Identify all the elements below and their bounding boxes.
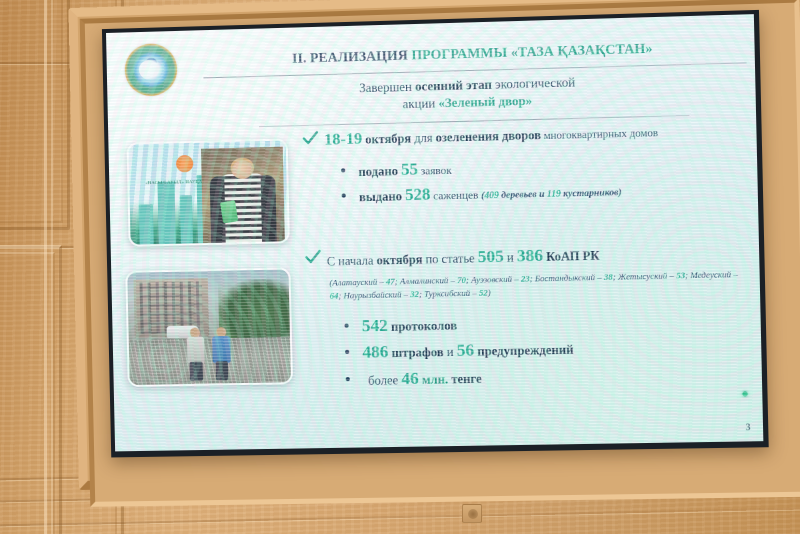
block1-for: для: [414, 131, 436, 146]
block1-item-2: выдано 528 саженцев (409 деревьев и 119 …: [359, 180, 622, 206]
block2-fines-count: 486: [362, 342, 388, 362]
block1-heading: 18-19 октября для озеленения дворов мног…: [324, 123, 658, 150]
slide-photo-green-yard-event: «НАСЫЛ АУЫЛ» НАУҚАНЫ: [126, 138, 290, 246]
district-value: 32: [410, 289, 419, 299]
block2-conj: и: [504, 250, 517, 264]
block2-item-1: 542 протоколов: [362, 314, 458, 336]
block2-item3-pre: более: [368, 373, 402, 388]
district-name: Бостандыкский –: [535, 272, 604, 284]
districts-close-paren: ): [488, 288, 491, 298]
bullet-dot: [341, 168, 345, 172]
subtitle-line2-b: «Зеленый двор»: [438, 93, 532, 110]
bullet-dot: [345, 324, 349, 328]
bullet-dot: [346, 377, 350, 381]
block2-lead: С начала: [327, 253, 377, 268]
photo2-person-legs: [190, 362, 203, 381]
slide-subtitle: Завершен осенний этап экологической акци…: [248, 71, 689, 116]
district-value: 64: [330, 291, 339, 301]
district-value: 23: [521, 273, 530, 283]
block2-item-2: 486 штрафов и 56 предупреждений: [362, 338, 573, 362]
block2-fines-label: штрафов: [388, 345, 447, 360]
block1-item-1: подано 55 заявок: [358, 159, 452, 181]
presentation-display[interactable]: II. РЕАЛИЗАЦИЯ ПРОГРАММЫ «ТАЗА ҚАЗАҚСТАН…: [106, 14, 763, 451]
block1-green-yards: озеленения дворов: [435, 128, 541, 145]
block2-mid: по статье: [422, 251, 478, 266]
photo2-person: [212, 327, 231, 379]
block2-protocols-label: протоколов: [388, 318, 458, 334]
block1-shrubs-count: 119: [547, 189, 561, 199]
checkmark-icon: [304, 249, 322, 267]
screen-wall-frame: II. РЕАЛИЗАЦИЯ ПРОГРАММЫ «ТАЗА ҚАЗАҚСТАН…: [68, 0, 800, 518]
photo1-person: [201, 147, 285, 243]
photo2-person-body: [187, 336, 205, 363]
block1-item2-parenthetical: (409 деревьев и 119 кустарников): [481, 188, 622, 201]
block1-dates: 18-19: [324, 131, 362, 149]
photo2-person: [186, 327, 205, 379]
block1-trees-count: 409: [484, 191, 499, 201]
slide-title-part1: II. РЕАЛИЗАЦИЯ: [292, 47, 412, 65]
district-name: Турксибский –: [424, 288, 479, 299]
block2-article-2: 386: [517, 246, 544, 266]
checkmark-icon: [302, 130, 320, 148]
district-name: Ауэзовский –: [471, 274, 521, 285]
slide-content: II. РЕАЛИЗАЦИЯ ПРОГРАММЫ «ТАЗА ҚАЗАҚСТАН…: [106, 14, 763, 451]
photo1-building: [139, 204, 154, 244]
district-value: 52: [479, 288, 488, 298]
photo1-building: [180, 195, 194, 243]
slide-photo-street-inspection: [125, 267, 293, 387]
slide-title-part2: ПРОГРАММЫ «ТАЗА ҚАЗАҚСТАН»: [411, 41, 652, 63]
block2-warnings-count: 56: [456, 340, 474, 360]
photo1-person-vest: [210, 175, 277, 243]
district-name: Медеуский –: [690, 269, 738, 280]
subtitle-line1-b: осенний этап: [415, 78, 492, 94]
photo1-sun-icon: [176, 155, 193, 172]
photo1-building: [157, 182, 176, 245]
block1-item1-noun: заявок: [418, 165, 452, 178]
district-breakdown-list: (Алатауский – 47; Алмалинский – 70; Ауэз…: [329, 268, 749, 304]
slide-page-number: 3: [746, 422, 751, 432]
status-indicator-dot: [742, 391, 747, 396]
subtitle-line1-a: Завершен: [359, 80, 415, 96]
block2-amount-value: 46: [401, 369, 419, 389]
emblem-center-icon: [145, 57, 157, 68]
block2-item-3: более 46 млн. тенге: [368, 368, 482, 390]
block1-shrubs-label: кустарников: [561, 188, 619, 200]
district-name: Алмалинский –: [400, 275, 458, 286]
block2-code: КоАП РК: [543, 248, 600, 263]
block1-item1-value: 55: [401, 159, 418, 179]
district-entries: Алатауский – 47; Алмалинский – 70; Ауэзо…: [330, 269, 738, 301]
block1-item2-value: 528: [405, 184, 431, 204]
display-bezel: II. РЕАЛИЗАЦИЯ ПРОГРАММЫ «ТАЗА ҚАЗАҚСТАН…: [102, 10, 769, 458]
block1-item2-verb: выдано: [359, 189, 405, 204]
block2-amount-unit: млн.: [419, 372, 452, 387]
subtitle-line2-a: акции: [402, 96, 438, 111]
almaty-coat-of-arms-icon: [124, 43, 177, 97]
photo2-road: [129, 337, 291, 385]
district-value: 38: [604, 272, 613, 282]
photo2-person-body: [212, 336, 230, 363]
wall-socket-plate[interactable]: [462, 504, 482, 523]
subtitle-line1-c: экологической: [492, 75, 576, 91]
room-scene: II. РЕАЛИЗАЦИЯ ПРОГРАММЫ «ТАЗА ҚАЗАҚСТАН…: [0, 0, 800, 534]
block1-item1-verb: подано: [358, 164, 401, 179]
bullet-dot: [342, 194, 346, 198]
block2-heading: С начала октября по статье 505 и 386 КоА…: [327, 244, 600, 270]
bullet-dot: [345, 350, 349, 354]
block1-month: октября: [362, 131, 414, 146]
block1-trees-label: деревьев и: [499, 190, 547, 201]
block2-article-1: 505: [477, 247, 504, 267]
slide-bullet-content: 18-19 октября для озеленения дворов мног…: [302, 120, 754, 132]
block2-amount-currency: тенге: [451, 372, 482, 387]
photo2-person-legs: [215, 361, 228, 380]
district-name: Алатауский –: [332, 276, 386, 287]
block2-month: октября: [376, 252, 422, 267]
district-value: 70: [457, 275, 466, 285]
district-name: Наурызбайский –: [343, 289, 410, 300]
block2-warnings-label: предупреждений: [474, 343, 574, 359]
block2-protocols-count: 542: [362, 316, 388, 336]
district-name: Жетысуский –: [618, 270, 676, 281]
block1-tail: многоквартирных домов: [541, 128, 658, 142]
block1-item2-noun: саженцев: [430, 189, 481, 202]
